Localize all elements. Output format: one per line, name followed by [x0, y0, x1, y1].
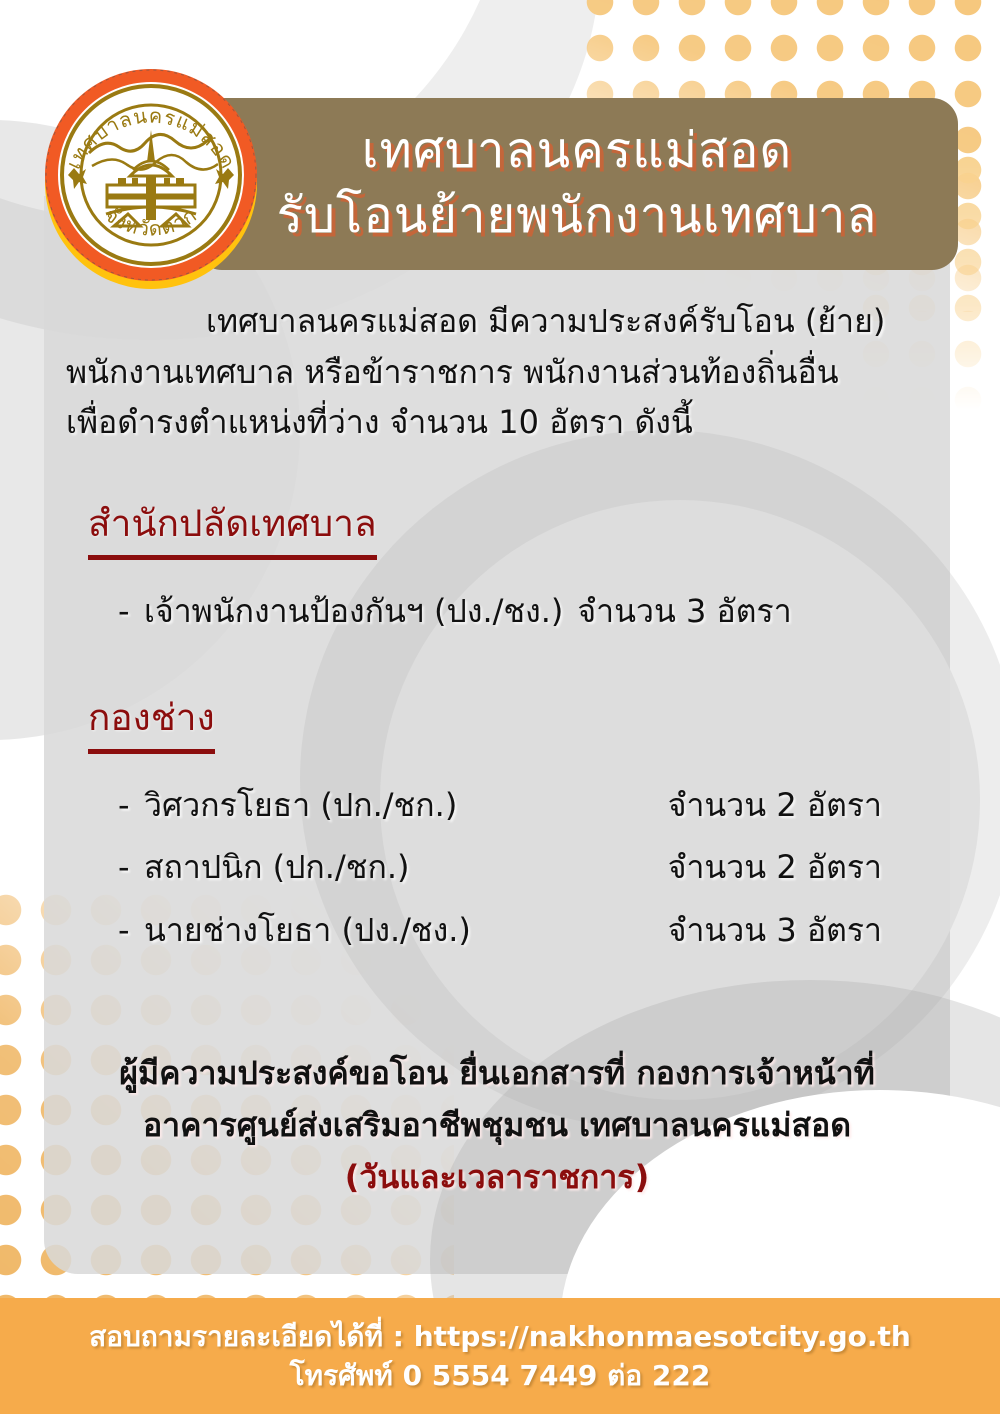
job-row: - นายช่างโยธา (ปง./ชง.) จำนวน 3 อัตรา: [66, 899, 928, 961]
job-title: เจ้าพนักงานป้องกันฯ (ปง./ชง.): [144, 580, 563, 642]
footer-website-line[interactable]: สอบถามรายละเอียดได้ที่ : https://nakhonm…: [89, 1317, 911, 1356]
intro-line-2: พนักงานเทศบาล หรือข้าราชการ พนักงานส่วนท…: [66, 353, 839, 391]
announcement-body: เทศบาลนครแม่สอด มีความประสงค์รับโอน (ย้า…: [44, 196, 950, 961]
poster-root: เทศบาลนครแม่สอด รับโอนย้ายพนักงานเทศบาล: [0, 0, 1000, 1414]
job-dash: -: [118, 899, 144, 961]
contact-office-hours-note: (วันและเวลาราชการ): [44, 1152, 950, 1204]
job-title: วิศวกรโยธา (ปก./ชก.): [144, 774, 457, 836]
section-sam-nak-palad: สำนักปลัดเทศบาล - เจ้าพนักงานป้องกันฯ (ป…: [44, 448, 950, 642]
job-count: จำนวน 2 อัตรา: [668, 774, 928, 836]
job-dash: -: [118, 774, 144, 836]
intro-line-3: เพื่อดำรงตำแหน่งที่ว่าง จำนวน 10 อัตรา ด…: [66, 403, 693, 441]
job-count: จำนวน 2 อัตรา: [668, 836, 928, 898]
intro-paragraph: เทศบาลนครแม่สอด มีความประสงค์รับโอน (ย้า…: [44, 296, 950, 448]
job-title: สถาปนิก (ปก./ชก.): [144, 836, 409, 898]
footer-bar: สอบถามรายละเอียดได้ที่ : https://nakhonm…: [0, 1298, 1000, 1414]
job-title: นายช่างโยธา (ปง./ชง.): [144, 899, 471, 961]
job-row: - เจ้าพนักงานป้องกันฯ (ปง./ชง.) จำนวน 3 …: [66, 580, 928, 642]
job-count: จำนวน 3 อัตรา: [577, 580, 791, 642]
job-list: - เจ้าพนักงานป้องกันฯ (ปง./ชง.) จำนวน 3 …: [66, 580, 928, 642]
job-row: - สถาปนิก (ปก./ชก.) จำนวน 2 อัตรา: [66, 836, 928, 898]
job-count: จำนวน 3 อัตรา: [668, 899, 928, 961]
banner-title-line-1: เทศบาลนครแม่สอด: [362, 119, 792, 184]
job-dash: -: [118, 580, 144, 642]
footer-phone-line: โทรศัพท์ 0 5554 7449 ต่อ 222: [290, 1356, 711, 1395]
job-row: - วิศวกรโยธา (ปก./ชก.) จำนวน 2 อัตรา: [66, 774, 928, 836]
job-list: - วิศวกรโยธา (ปก./ชก.) จำนวน 2 อัตรา - ส…: [66, 774, 928, 961]
section-kong-chang: กองช่าง - วิศวกรโยธา (ปก./ชก.) จำนวน 2 อ…: [44, 642, 950, 961]
intro-line-1: เทศบาลนครแม่สอด มีความประสงค์รับโอน (ย้า…: [66, 296, 928, 347]
job-dash: -: [118, 836, 144, 898]
contact-block: ผู้มีความประสงค์ขอโอน ยื่นเอกสารที่ กองก…: [44, 1048, 950, 1203]
section-heading: กองช่าง: [88, 688, 215, 754]
contact-line-1: ผู้มีความประสงค์ขอโอน ยื่นเอกสารที่ กองก…: [44, 1048, 950, 1100]
section-heading: สำนักปลัดเทศบาล: [88, 494, 377, 560]
contact-line-2: อาคารศูนย์ส่งเสริมอาชีพชุมชน เทศบาลนครแม…: [44, 1100, 950, 1152]
